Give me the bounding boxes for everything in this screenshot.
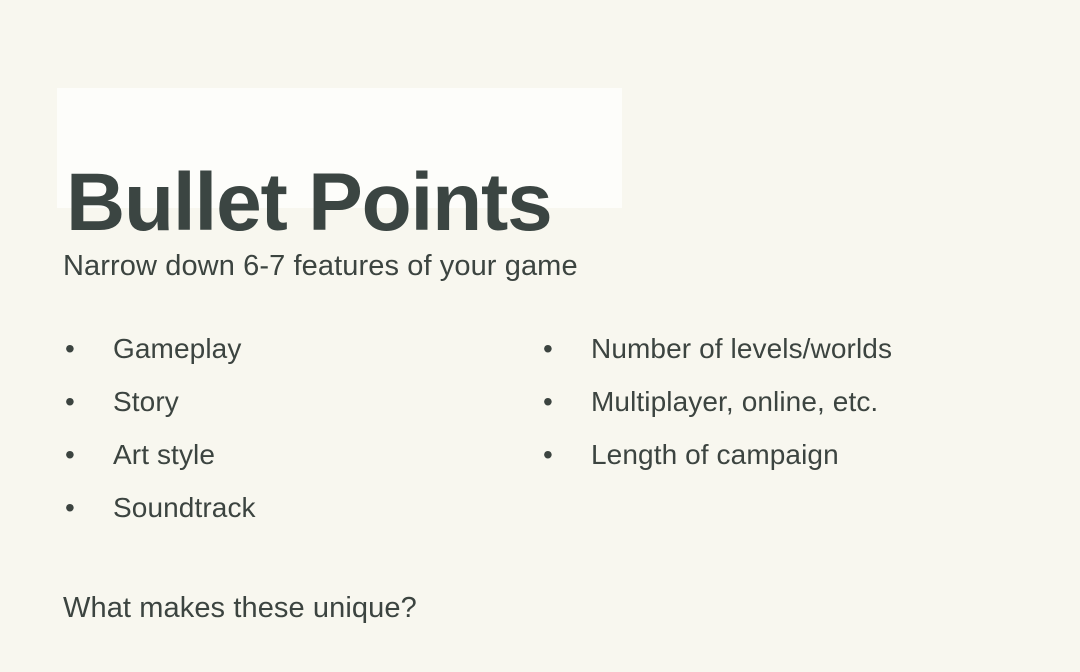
bullet-dot-icon: •: [541, 375, 591, 428]
bullet-label: Soundtrack: [113, 481, 503, 534]
bullet-label: Multiplayer, online, etc.: [591, 375, 1041, 428]
slide-canvas: Bullet Points Narrow down 6-7 features o…: [0, 0, 1080, 672]
bullet-dot-icon: •: [541, 322, 591, 375]
list-item: • Number of levels/worlds: [541, 322, 1041, 375]
bullet-dot-icon: •: [63, 428, 113, 481]
list-item: • Multiplayer, online, etc.: [541, 375, 1041, 428]
closing-question-text: What makes these unique?: [63, 590, 417, 628]
page-title: Bullet Points: [66, 143, 626, 263]
bullet-label: Number of levels/worlds: [591, 322, 1041, 375]
bullet-label: Length of campaign: [591, 428, 1041, 481]
bullet-dot-icon: •: [63, 322, 113, 375]
bullet-dot-icon: •: [541, 428, 591, 481]
list-item: • Length of campaign: [541, 428, 1041, 481]
bullet-label: Art style: [113, 428, 503, 481]
bullet-label: Gameplay: [113, 322, 503, 375]
list-item: • Gameplay: [63, 322, 503, 375]
bullet-dot-icon: •: [63, 375, 113, 428]
bullet-dot-icon: •: [63, 481, 113, 534]
bullet-column-left: • Gameplay • Story • Art style • Soundtr…: [63, 322, 503, 534]
bullet-column-right: • Number of levels/worlds • Multiplayer,…: [541, 322, 1041, 481]
bullet-label: Story: [113, 375, 503, 428]
list-item: • Art style: [63, 428, 503, 481]
subtitle-text: Narrow down 6-7 features of your game: [63, 248, 578, 286]
list-item: • Story: [63, 375, 503, 428]
list-item: • Soundtrack: [63, 481, 503, 534]
